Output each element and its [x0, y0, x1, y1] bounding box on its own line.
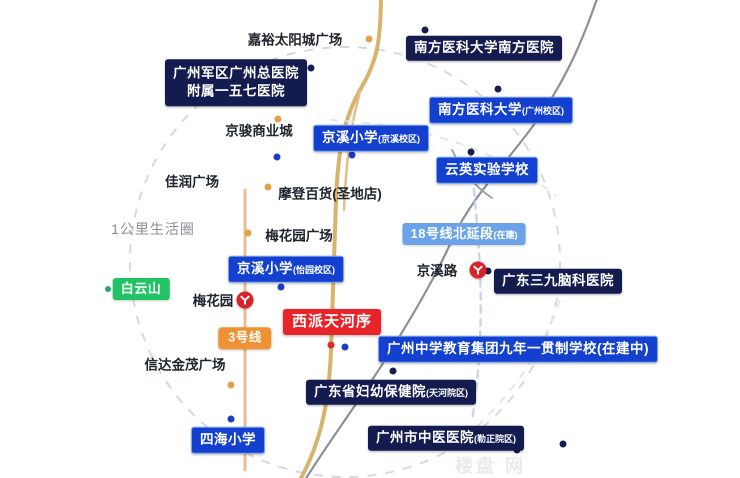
map-label-text: 云英实验学校	[445, 163, 529, 177]
metro-station-name: 京溪路	[417, 264, 458, 278]
poi-dot	[495, 86, 502, 93]
map-label-text-line2: 附属一五七医院	[173, 83, 299, 101]
poi-dot	[245, 230, 252, 237]
life-circle-label: 1公里生活圈	[111, 222, 195, 236]
map-label-text: 佳润广场	[165, 174, 219, 189]
map-label-text: 京骏商业城	[225, 123, 293, 138]
map-label-text: 广州军区广州总医院	[173, 64, 299, 82]
map-label-sublabel: (怡园校区)	[293, 266, 335, 275]
poi-dot	[560, 441, 567, 448]
metro-line-badge[interactable]: 3号线	[218, 327, 271, 349]
map-label-plain: 嘉裕太阳城广场	[248, 33, 343, 47]
map-label-text: 摩登百货	[278, 186, 332, 201]
map-label-blue[interactable]: 广州中学教育集团九年一贯制学校(在建中)	[378, 336, 658, 363]
map-label-text: 白云山	[121, 282, 162, 295]
poi-dot	[228, 416, 235, 423]
map-label-plain: 京骏商业城	[225, 124, 293, 138]
watermark-text: 楼盘 网	[455, 452, 526, 478]
map-label-text: 广东三九脑科医院	[502, 274, 614, 288]
map-label-text: 嘉裕太阳城广场	[248, 32, 343, 47]
map-label-text: 3号线	[228, 331, 261, 344]
poi-dot	[278, 284, 285, 291]
poi-dot	[366, 36, 373, 43]
metro-station-name: 梅花园	[193, 294, 234, 308]
map-label-navy[interactable]: 广东省妇幼保健院(天河院区)	[306, 380, 476, 405]
map-label-blue[interactable]: 京溪小学(怡园校区)	[228, 256, 344, 283]
map-label-text: 广州市中医医院	[376, 431, 474, 445]
metro-station-icon[interactable]	[470, 262, 487, 279]
subject-property-label[interactable]: 西派天河序	[283, 309, 381, 335]
map-label-sublabel: (勒正院区)	[474, 435, 516, 444]
poi-dot	[275, 116, 282, 123]
map-label-plain: 佳润广场	[165, 175, 219, 189]
map-label-text: 18号线北延段	[411, 227, 494, 240]
map-label-sublabel: (京溪校区)	[378, 135, 420, 144]
map-label-blue[interactable]: 云英实验学校	[436, 157, 538, 184]
map-label-sublabel: (在建)	[493, 231, 517, 240]
map-label-text: 南方医科大学南方医院	[414, 41, 554, 55]
map-label-text: 南方医科大学	[438, 103, 522, 117]
map-label-text: 京溪小学	[322, 131, 378, 145]
map-label-blue[interactable]: 南方医科大学(广州校区)	[429, 97, 573, 124]
poi-dot	[468, 149, 475, 156]
map-label-text: 京溪小学	[237, 262, 293, 276]
map-label-navy[interactable]: 南方医科大学南方医院	[406, 36, 562, 61]
poi-dot	[349, 152, 356, 159]
poi-dot	[342, 344, 349, 351]
map-label-navy[interactable]: 广东三九脑科医院	[494, 269, 622, 294]
poi-dot	[328, 342, 335, 349]
map-label-text: 西派天河序	[292, 314, 372, 329]
map-label-text: 四海小学	[200, 433, 256, 447]
map-label-navy[interactable]: 广州军区广州总医院附属一五七医院	[165, 59, 307, 106]
map-label-plain: 梅花园广场	[265, 229, 333, 243]
metro-line-badge[interactable]: 18号线北延段(在建)	[403, 223, 526, 245]
poi-dot	[422, 27, 429, 34]
poi-dot	[274, 154, 281, 161]
poi-dot	[105, 286, 111, 292]
map-label-plain: 摩登百货(圣地店)	[278, 187, 382, 201]
map-label-navy[interactable]: 广州市中医医院(勒正院区)	[368, 426, 524, 451]
map-label-text: 广州中学教育集团九年一贯制学校(在建中)	[387, 342, 649, 356]
map-label-green[interactable]: 白云山	[113, 278, 170, 300]
map-label-text: 信达金茂广场	[145, 357, 226, 372]
map-label-sublabel: (圣地店)	[332, 186, 382, 201]
map-label-text: 梅花园广场	[265, 228, 333, 243]
location-map: 嘉裕太阳城广场南方医科大学南方医院广州军区广州总医院附属一五七医院南方医科大学(…	[0, 0, 740, 470]
poi-dot	[265, 184, 272, 191]
poi-dot	[228, 382, 235, 389]
poi-dot	[390, 368, 397, 375]
map-label-blue[interactable]: 京溪小学(京溪校区)	[313, 125, 429, 152]
poi-dot	[308, 65, 315, 72]
metro-station-icon[interactable]	[237, 292, 254, 309]
map-label-text: 广东省妇幼保健院	[314, 385, 426, 399]
map-label-plain: 信达金茂广场	[145, 358, 226, 372]
map-label-blue[interactable]: 四海小学	[191, 427, 265, 454]
map-label-sublabel: (天河院区)	[426, 389, 468, 398]
map-label-sublabel: (广州校区)	[522, 107, 564, 116]
